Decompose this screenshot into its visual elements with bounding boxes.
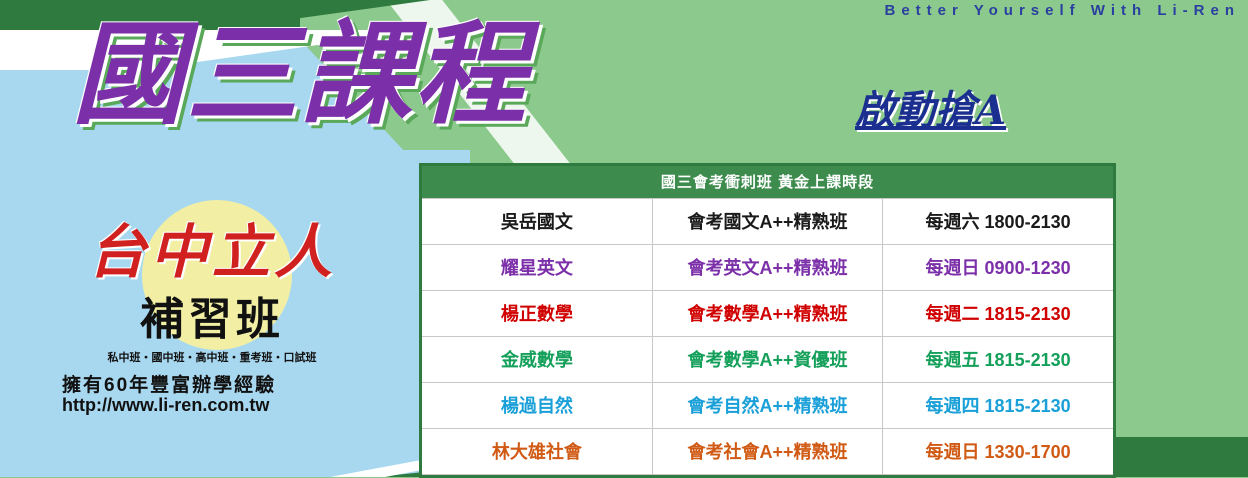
table-cell-course: 會考國文A++精熟班 (652, 199, 882, 245)
logo-website-url[interactable]: http://www.li-ren.com.tw (62, 395, 269, 416)
table-row: 楊過自然會考自然A++精熟班每週四 1815-2130 (422, 383, 1113, 429)
table-cell-course: 會考自然A++精熟班 (652, 383, 882, 429)
table-cell-time: 每週日 1330-1700 (883, 429, 1113, 475)
subtitle: 啟動搶A (855, 78, 1006, 136)
table-cell-teacher: 楊正數學 (422, 291, 652, 337)
table-cell-time: 每週六 1800-2130 (883, 199, 1113, 245)
table-cell-course: 會考英文A++精熟班 (652, 245, 882, 291)
logo-name-primary: 台中立人 (22, 205, 402, 289)
table-cell-course: 會考數學A++資優班 (652, 337, 882, 383)
table-row: 吳岳國文會考國文A++精熟班每週六 1800-2130 (422, 199, 1113, 245)
table-header-title: 國三會考衝刺班 黃金上課時段 (422, 166, 1113, 199)
table-cell-teacher: 林大雄社會 (422, 429, 652, 475)
table-cell-teacher: 吳岳國文 (422, 199, 652, 245)
table-cell-teacher: 楊過自然 (422, 383, 652, 429)
table-cell-time: 每週二 1815-2130 (883, 291, 1113, 337)
page-title: 國三課程 (72, 16, 528, 134)
table-row: 金威數學會考數學A++資優班每週五 1815-2130 (422, 337, 1113, 383)
table-cell-time: 每週五 1815-2130 (883, 337, 1113, 383)
table-row: 林大雄社會會考社會A++精熟班每週日 1330-1700 (422, 429, 1113, 475)
table-cell-course: 會考社會A++精熟班 (652, 429, 882, 475)
table-cell-course: 會考數學A++精熟班 (652, 291, 882, 337)
table-row: 耀星英文會考英文A++精熟班每週日 0900-1230 (422, 245, 1113, 291)
logo-experience-text: 擁有60年豐富辦學經驗 (62, 370, 276, 397)
table-cell-teacher: 金威數學 (422, 337, 652, 383)
tagline: Better Yourself With Li-Ren (885, 2, 1241, 19)
table-header-row: 國三會考衝刺班 黃金上課時段 (422, 166, 1113, 199)
schedule-table: 國三會考衝刺班 黃金上課時段 吳岳國文會考國文A++精熟班每週六 1800-21… (419, 163, 1116, 478)
logo-class-list: 私中班・國中班・高中班・重考班・口試班 (22, 349, 402, 365)
logo: 台中立人 補習班 私中班・國中班・高中班・重考班・口試班 擁有60年豐富辦學經驗… (22, 205, 402, 365)
table-cell-time: 每週四 1815-2130 (883, 383, 1113, 429)
table-row: 楊正數學會考數學A++精熟班每週二 1815-2130 (422, 291, 1113, 337)
table-cell-teacher: 耀星英文 (422, 245, 652, 291)
table-cell-time: 每週日 0900-1230 (883, 245, 1113, 291)
logo-name-secondary: 補習班 (22, 283, 402, 347)
